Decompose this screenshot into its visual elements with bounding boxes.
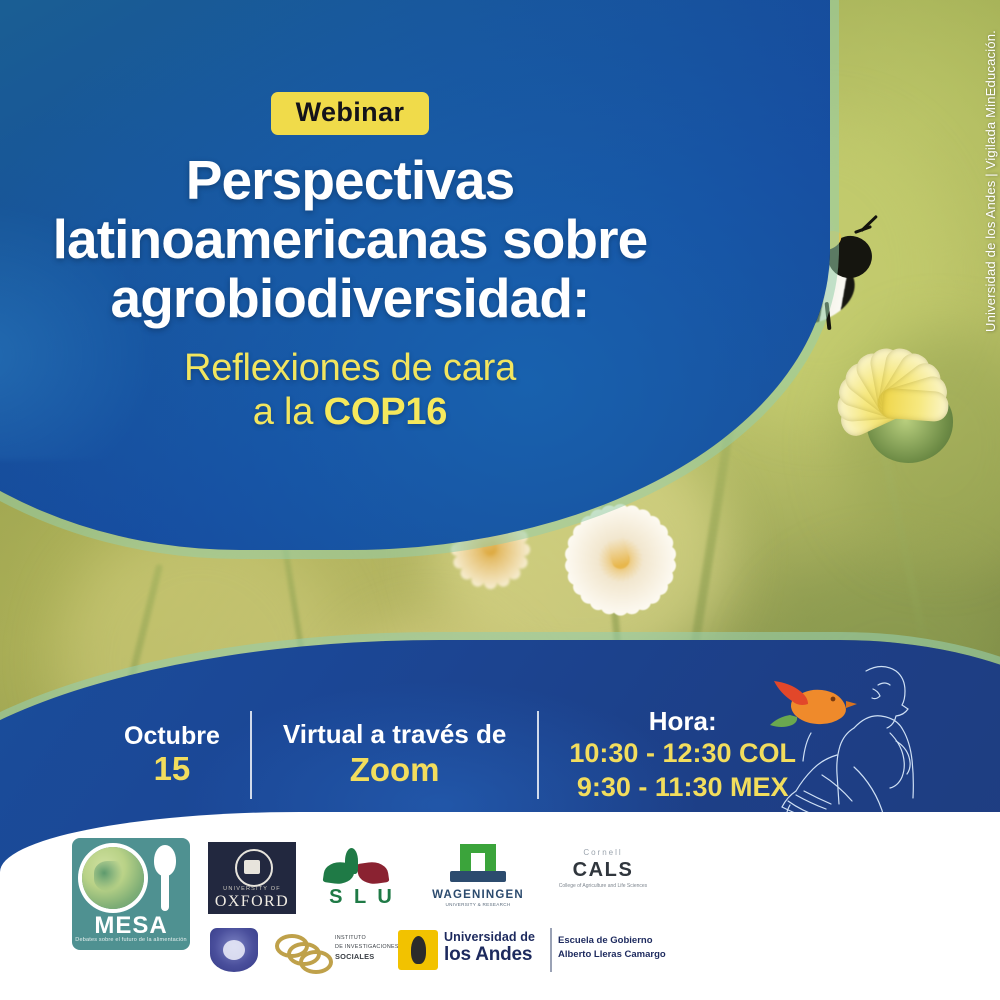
title-line-3: agrobiodiversidad:: [111, 267, 590, 329]
wageningen-base-block: [450, 871, 506, 882]
wageningen-green-block: [460, 844, 496, 874]
logo-mesa: MESA Debates sobre el futuro de la alime…: [72, 838, 190, 950]
escuela-line-2: Alberto Lleras Camargo: [558, 948, 718, 962]
sponsor-logos: MESA Debates sobre el futuro de la alime…: [58, 830, 698, 990]
iis-ring: [299, 950, 333, 974]
divider: [537, 711, 539, 799]
logo-oxford: UNIVERSITY OF OXFORD: [208, 842, 296, 914]
logo-slu: S L U: [318, 848, 406, 914]
logo-wageningen: WAGENINGEN UNIVERSITY & RESEARCH: [423, 844, 533, 914]
hero-content: Webinar Perspectivas latinoamericanas so…: [0, 0, 700, 434]
wageningen-tagline: UNIVERSITY & RESEARCH: [423, 902, 533, 907]
venue-text: Virtual a través de: [283, 720, 507, 750]
escuela-line-1: Escuela de Gobierno: [558, 934, 718, 948]
time-mexico: 9:30 - 11:30 MEX: [569, 771, 796, 804]
date-month: Octubre: [124, 723, 220, 751]
event-date: Octubre 15: [120, 723, 224, 787]
bird-tail: [770, 715, 797, 727]
time-colombia: 10:30 - 12:30 COL: [569, 737, 796, 770]
logo-uniandes: Universidad de los Andes: [398, 926, 548, 976]
oxford-wordmark: OXFORD: [208, 893, 296, 911]
venue-platform: Zoom: [283, 750, 507, 790]
oxford-sub: UNIVERSITY OF: [208, 886, 296, 892]
unam-shield-icon: [210, 928, 258, 972]
time-label: Hora:: [569, 706, 796, 737]
globe-icon: [82, 847, 144, 909]
title-line-2: latinoamericanas sobre: [53, 208, 648, 270]
event-details: Octubre 15 Virtual a través de Zoom Hora…: [120, 700, 800, 810]
cals-tagline: College of Agriculture and Life Sciences: [555, 883, 651, 891]
logo-escuela-gobierno: Escuela de Gobierno Alberto Lleras Camar…: [558, 934, 718, 962]
date-day: 15: [124, 751, 220, 787]
vertical-legal-text: Universidad de los Andes | Vigilada MinE…: [983, 30, 998, 332]
divider: [250, 711, 252, 799]
iis-line-3: SOCIALES: [335, 952, 374, 961]
uniandes-mark-icon: [398, 930, 438, 970]
bird-beak: [846, 701, 857, 708]
event-venue: Virtual a través de Zoom: [279, 720, 511, 789]
webinar-badge: Webinar: [271, 92, 430, 135]
footer-logo-bar: MESA Debates sobre el futuro de la alime…: [0, 812, 1000, 1000]
divider: [550, 928, 552, 972]
mesa-tagline: Debates sobre el futuro de la alimentaci…: [72, 937, 190, 944]
subtitle-prefix: a la: [253, 391, 324, 433]
cals-top-word: Cornell: [555, 848, 651, 857]
subtitle-line-1: Reflexiones de cara: [184, 347, 516, 389]
spoon-icon: [154, 845, 176, 909]
event-time: Hora: 10:30 - 12:30 COL 9:30 - 11:30 MEX: [565, 706, 800, 804]
mesa-wordmark: MESA: [72, 912, 190, 940]
wageningen-mark-icon: [450, 844, 506, 886]
leaf-icon: [345, 848, 358, 874]
leaf-icon: [357, 860, 390, 886]
page-subtitle: Reflexiones de cara a la COP16: [0, 346, 700, 434]
petal: [881, 387, 949, 422]
wageningen-wordmark: WAGENINGEN: [423, 889, 533, 901]
spoon-handle: [161, 871, 169, 911]
logo-unam: [206, 926, 262, 978]
uniandes-line-1: Universidad de: [444, 930, 535, 944]
title-line-1: Perspectivas: [186, 149, 515, 211]
webinar-poster: Webinar Perspectivas latinoamericanas so…: [0, 0, 1000, 1000]
subtitle-cop16: COP16: [324, 391, 448, 433]
iis-monogram-icon: [273, 930, 329, 972]
slu-wordmark: S L U: [318, 886, 406, 909]
uniandes-line-2: los Andes: [444, 944, 532, 966]
oxford-crest-icon: [235, 849, 273, 887]
page-title: Perspectivas latinoamericanas sobre agro…: [0, 151, 700, 328]
logo-cals: Cornell CALS College of Agriculture and …: [555, 848, 651, 910]
bird-eye: [831, 697, 836, 702]
cals-wordmark: CALS: [555, 859, 651, 882]
